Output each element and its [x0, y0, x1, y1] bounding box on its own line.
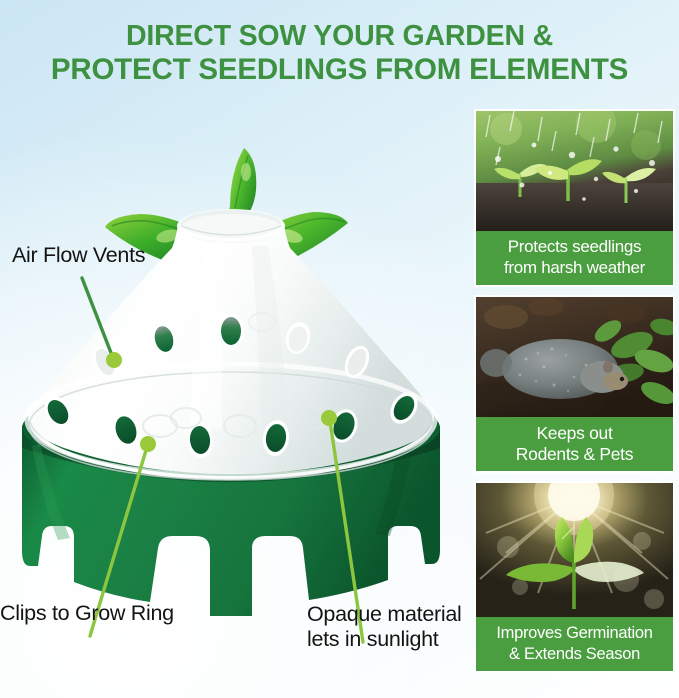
headline-line-1: DIRECT SOW YOUR GARDEN & — [0, 20, 679, 53]
annotation-opaque-material: Opaque material lets in sunlight — [307, 602, 461, 652]
squirrel-in-garden-photo — [476, 297, 673, 417]
product-illustration — [0, 96, 470, 656]
panel-caption: Protects seedlings from harsh weather — [476, 231, 673, 285]
annotation-air-flow-vents: Air Flow Vents — [12, 243, 145, 268]
rain-on-seedlings-photo — [476, 111, 673, 231]
headline-line-2: PROTECT SEEDLINGS FROM ELEMENTS — [0, 53, 679, 86]
sunlit-seedling-photo — [476, 483, 673, 617]
benefit-panel-protects-seedlings: Protects seedlings from harsh weather — [475, 110, 674, 286]
leader-dot-opaque — [321, 410, 337, 426]
infographic-canvas: DIRECT SOW YOUR GARDEN & PROTECT SEEDLIN… — [0, 0, 679, 698]
leader-dot-clips — [140, 436, 156, 452]
panel-caption: Improves Germination & Extends Season — [476, 617, 673, 671]
benefit-panels: Protects seedlings from harsh weather — [475, 110, 672, 682]
panel-caption: Keeps out Rodents & Pets — [476, 417, 673, 471]
leader-dot-vents — [106, 352, 122, 368]
annotation-clips-to-grow-ring: Clips to Grow Ring — [0, 601, 174, 626]
page-title: DIRECT SOW YOUR GARDEN & PROTECT SEEDLIN… — [0, 20, 679, 86]
benefit-panel-improves-germination: Improves Germination & Extends Season — [475, 482, 674, 672]
benefit-panel-keeps-out-rodents: Keeps out Rodents & Pets — [475, 296, 674, 472]
